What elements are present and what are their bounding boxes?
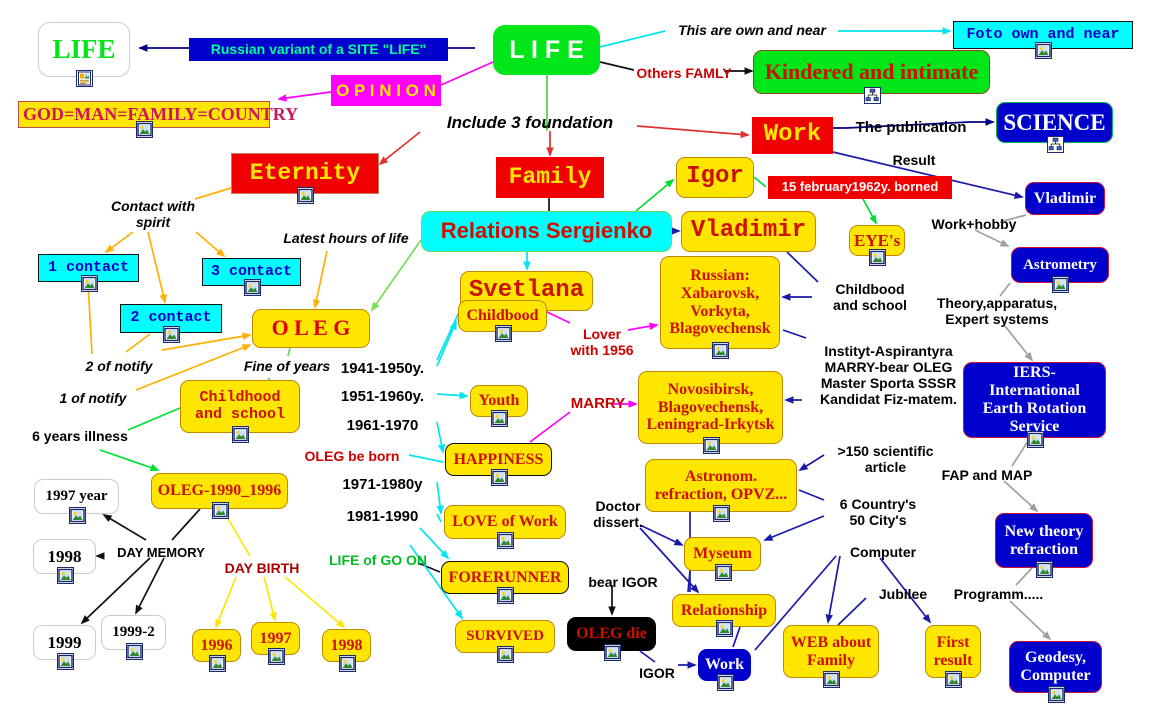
node-label: SURVIVED: [460, 628, 550, 645]
edge-label-fap_map: FAP and MAP: [932, 467, 1042, 483]
edge-vladimir_y-to-childbood_sch_l: [787, 252, 818, 282]
edge-six_years-to-childhood_sch: [128, 408, 180, 430]
edge-computer_lbl-to-web_family: [828, 556, 840, 622]
node-label: First result: [930, 634, 976, 670]
edge-life_main-to-this_are_own: [600, 31, 665, 47]
edge-six_country-to-myseum: [765, 516, 824, 540]
edge-label-the_publication: The publication: [851, 119, 971, 136]
node-life_main[interactable]: L I F E: [493, 25, 600, 75]
node-label: WEB about Family: [788, 634, 874, 670]
picture-icon[interactable]: [497, 587, 514, 604]
picture-icon[interactable]: [57, 567, 74, 584]
node-label: Kindered and intimate: [758, 60, 985, 85]
edge-svetlana-to-y1941: [437, 310, 460, 360]
picture-icon[interactable]: [212, 502, 229, 519]
node-label: SCIENCE: [1001, 110, 1108, 136]
sitemap-icon[interactable]: [1047, 136, 1064, 153]
picture-icon[interactable]: [497, 532, 514, 549]
node-label: 1998: [327, 637, 366, 655]
edge-label-six_country: 6 Country's 50 City's: [828, 496, 928, 528]
edge-contact_spirit-to-contact2: [148, 232, 165, 302]
node-label: Novosibirsk, Blagovechensk, Leningrad-Ir…: [643, 381, 778, 435]
edge-label-contact_spirit: Contact with spirit: [98, 198, 208, 230]
node-iers[interactable]: IERS-International Earth Rotation Servic…: [963, 362, 1106, 438]
picture-icon[interactable]: [81, 275, 98, 292]
picture-icon[interactable]: [716, 620, 733, 637]
edge-latest_hours-to-oleg: [315, 251, 327, 307]
edge-label-this_are_own: This are own and near: [672, 22, 832, 38]
node-label: Vladimir: [1030, 190, 1100, 208]
node-label: Childbood: [463, 307, 542, 325]
node-label: Vladimir: [686, 218, 811, 245]
edge-label-childbood_sch_l: Childbood and school: [820, 281, 920, 313]
picture-icon[interactable]: [1035, 42, 1052, 59]
node-igor[interactable]: Igor: [676, 157, 754, 198]
edge-work_hobby-to-astrometry: [975, 230, 1008, 246]
node-label: 15 february1962y. borned: [773, 180, 947, 195]
node-label: L I F E: [498, 36, 595, 64]
node-label: FORERUNNER: [446, 569, 564, 587]
picture-icon[interactable]: [491, 410, 508, 427]
edge-label-work_hobby: Work+hobby: [924, 216, 1024, 232]
node-vladimir_blue[interactable]: Vladimir: [1025, 182, 1105, 215]
edge-label-igor_lbl: IGOR: [633, 665, 681, 681]
node-relations[interactable]: Relations Sergienko: [421, 211, 672, 252]
node-label: Family: [501, 165, 599, 191]
edge-label-marry: MARRY: [565, 395, 631, 412]
edge-label-fine_years: Fine of years: [232, 358, 342, 374]
node-family[interactable]: Family: [496, 157, 604, 198]
picture-icon[interactable]: [268, 648, 285, 665]
node-label: O P I N I O N: [336, 81, 436, 100]
node-label: Geodesy, Computer: [1014, 649, 1097, 685]
picture-icon[interactable]: [1027, 431, 1044, 448]
edge-svetlana-to-lover_1956: [545, 311, 570, 323]
edge-day_memory-to-year1997: [104, 515, 146, 540]
document-picture-icon[interactable]: [76, 70, 93, 87]
sitemap-icon[interactable]: [864, 87, 881, 104]
edge-label-bear_igor: bear IGOR: [578, 574, 668, 590]
picture-icon[interactable]: [1052, 276, 1069, 293]
node-label: 2 contact: [125, 310, 217, 327]
node-label: Astrometry: [1016, 257, 1104, 274]
node-label: 1999-2: [106, 624, 161, 641]
node-novosibirsk[interactable]: Novosibirsk, Blagovechensk, Leningrad-Ir…: [638, 371, 783, 444]
node-label: LIFE: [43, 34, 125, 64]
edge-label-oleg_be_born: OLEG be born: [297, 448, 407, 464]
node-oleg[interactable]: O L E G: [252, 309, 370, 348]
picture-icon[interactable]: [232, 426, 249, 443]
edge-scientific150-to-astronom_refr: [800, 455, 824, 470]
picture-icon[interactable]: [491, 469, 508, 486]
node-label: 1997: [256, 630, 295, 648]
picture-icon[interactable]: [713, 505, 730, 522]
node-label: Eternity: [236, 161, 374, 187]
edge-label-programm: Programm.....: [941, 586, 1056, 602]
edge-label-result: Result: [884, 152, 944, 168]
edge-new_theory-to-programm: [1016, 568, 1032, 585]
edge-oleg_be_born-to-happiness: [409, 455, 443, 462]
edge-label-y1981: 1981-1990: [330, 508, 435, 525]
edge-fap_map-to-new_theory: [1004, 481, 1037, 511]
node-label: Igor: [681, 164, 749, 191]
edge-born_date-to-eyes: [863, 199, 876, 223]
node-label: Relations Sergienko: [426, 219, 667, 244]
node-label: 1997 year: [39, 488, 114, 505]
edge-contact1-to-two_notify: [88, 283, 92, 354]
node-russian_cities[interactable]: Russian: Xabarovsk, Vorkyta, Blagovechen…: [660, 256, 780, 349]
node-label: New theory refraction: [1000, 523, 1088, 559]
picture-icon[interactable]: [712, 342, 729, 359]
picture-icon[interactable]: [495, 325, 512, 342]
node-label: LOVE of Work: [449, 513, 561, 531]
edge-include3-to-work_red: [637, 126, 748, 135]
node-label: IERS-International Earth Rotation Servic…: [968, 364, 1101, 436]
edge-label-y1961: 1961-1970: [330, 417, 435, 434]
picture-icon[interactable]: [869, 249, 886, 266]
node-life_ru[interactable]: LIFE: [38, 22, 130, 77]
node-label: Work: [703, 656, 746, 674]
node-label: HAPPINESS: [450, 451, 547, 469]
picture-icon[interactable]: [136, 121, 153, 138]
picture-icon[interactable]: [69, 507, 86, 524]
picture-icon[interactable]: [126, 643, 143, 660]
edge-label-one_notify: 1 of notify: [48, 390, 138, 406]
picture-icon[interactable]: [339, 655, 356, 672]
picture-icon[interactable]: [57, 653, 74, 670]
node-label: EYE's: [854, 231, 900, 250]
node-label: Work: [757, 122, 828, 149]
node-label: Myseum: [689, 545, 756, 563]
edge-label-life_go_on: LIFE of GO ON: [318, 552, 438, 568]
picture-icon[interactable]: [717, 674, 734, 691]
edge-include3-to-eternity: [380, 132, 420, 164]
node-label: Youth: [475, 392, 523, 410]
edge-opinion-to-god_man: [279, 92, 331, 99]
edge-relations-to-oleg: [372, 240, 421, 310]
picture-icon[interactable]: [1048, 686, 1065, 703]
edge-label-y1951: 1951-1960y.: [330, 388, 435, 405]
edge-label-day_memory: DAY MEMORY: [108, 546, 214, 561]
picture-icon[interactable]: [1036, 561, 1053, 578]
edge-y1941-to-childbood_sv: [437, 322, 456, 366]
node-label: Russian variant of a SITE "LIFE": [194, 42, 443, 58]
picture-icon[interactable]: [945, 671, 962, 688]
node-label: OLEG die: [572, 625, 651, 643]
edge-day_birth-to-year1998_y: [285, 577, 344, 627]
node-work_red[interactable]: Work: [752, 117, 833, 154]
edge-contact_spirit-to-contact3: [196, 232, 224, 256]
node-label: Russian: Xabarovsk, Vorkyta, Blagovechen…: [665, 267, 775, 339]
node-label: Foto own and near: [958, 27, 1128, 44]
picture-icon[interactable]: [497, 646, 514, 663]
node-vladimir_y[interactable]: Vladimir: [681, 211, 816, 252]
edge-contact_spirit-to-contact1: [106, 232, 133, 252]
edge-label-others_family: Others FAMLY: [629, 65, 739, 81]
mindmap-canvas: LIFERussian variant of a SITE "LIFE"L I …: [0, 0, 1154, 708]
picture-icon[interactable]: [823, 671, 840, 688]
node-opinion[interactable]: O P I N I O N: [331, 75, 441, 106]
node-new_theory[interactable]: New theory refraction: [995, 513, 1093, 568]
edge-happiness-to-marry: [530, 412, 570, 442]
edge-label-latest_hours: Latest hours of life: [271, 230, 421, 246]
edge-instityt-to-russian_cities: [783, 330, 806, 338]
edge-y1961-to-happiness: [437, 422, 443, 452]
edge-life_main-to-opinion: [441, 62, 493, 85]
edge-label-doctor_diss: Doctor dissert.: [580, 498, 656, 530]
edge-label-y1971: 1971-1980y: [330, 476, 435, 493]
node-label: 1998: [38, 547, 91, 566]
edge-jubilee-to-web_family: [838, 598, 866, 625]
edge-label-theory_app: Theory,apparatus, Expert systems: [927, 295, 1067, 327]
edge-programm-to-geodesy: [1010, 601, 1050, 639]
edge-label-two_notify: 2 of notify: [74, 358, 164, 374]
edge-y1951-to-youth: [437, 394, 467, 396]
edge-day_birth-to-year1997_y: [264, 577, 275, 620]
picture-icon[interactable]: [297, 187, 314, 204]
edge-day_birth-to-year1996_y: [216, 577, 236, 627]
edge-y1971-to-love_work: [437, 482, 441, 513]
edge-label-jubilee: Jubilee: [868, 586, 938, 602]
edge-label-include3: Include 3 foundation: [425, 113, 635, 133]
edge-six_years-to-oleg_1990: [100, 450, 158, 470]
edge-label-six_years: 6 years illness: [25, 428, 135, 444]
edge-igor-to-born_date: [754, 177, 766, 187]
picture-icon[interactable]: [604, 644, 621, 661]
edge-theory_app-to-iers: [1005, 326, 1032, 360]
edge-oleg-to-fine_years: [288, 348, 290, 356]
edge-label-y1941: 1941-1950y.: [330, 360, 435, 377]
node-label: Childhood and school: [185, 390, 295, 424]
picture-icon[interactable]: [209, 655, 226, 672]
node-born_date[interactable]: 15 february1962y. borned: [768, 176, 952, 199]
picture-icon[interactable]: [703, 437, 720, 454]
edge-label-computer_lbl: Computer: [838, 544, 928, 560]
edge-relations-to-igor: [636, 180, 673, 211]
node-label: Astronom. refraction, OPVZ...: [650, 468, 792, 504]
edge-label-scientific150: >150 scientific article: [828, 443, 943, 475]
node-ru_variant[interactable]: Russian variant of a SITE "LIFE": [189, 38, 448, 61]
edge-label-lover_1956: Lover with 1956: [562, 326, 642, 358]
edge-label-day_birth: DAY BIRTH: [214, 560, 310, 576]
edge-y1981-to-love_work: [437, 514, 441, 522]
edge-six_country-to-astronom_refr: [799, 490, 824, 500]
picture-icon[interactable]: [163, 326, 180, 343]
picture-icon[interactable]: [715, 564, 732, 581]
edge-relationship-to-work_blue: [733, 627, 740, 647]
node-label: 3 contact: [207, 264, 296, 281]
edge-oleg_1990-to-day_memory: [172, 509, 200, 540]
node-label: Relationship: [677, 602, 771, 620]
node-label: 1 contact: [43, 260, 134, 277]
edge-contact2-to-two_notify: [126, 334, 150, 352]
picture-icon[interactable]: [244, 279, 261, 296]
node-label: OLEG-1990_1996: [156, 482, 283, 500]
edge-label-instityt: Instityt-Aspirantyra MARRY-bear OLEG Mas…: [806, 343, 971, 407]
edge-oleg_die-to-igor_lbl: [640, 651, 655, 662]
node-label: 1996: [197, 637, 236, 655]
node-label: 1999: [38, 633, 91, 652]
node-label: O L E G: [257, 316, 365, 341]
